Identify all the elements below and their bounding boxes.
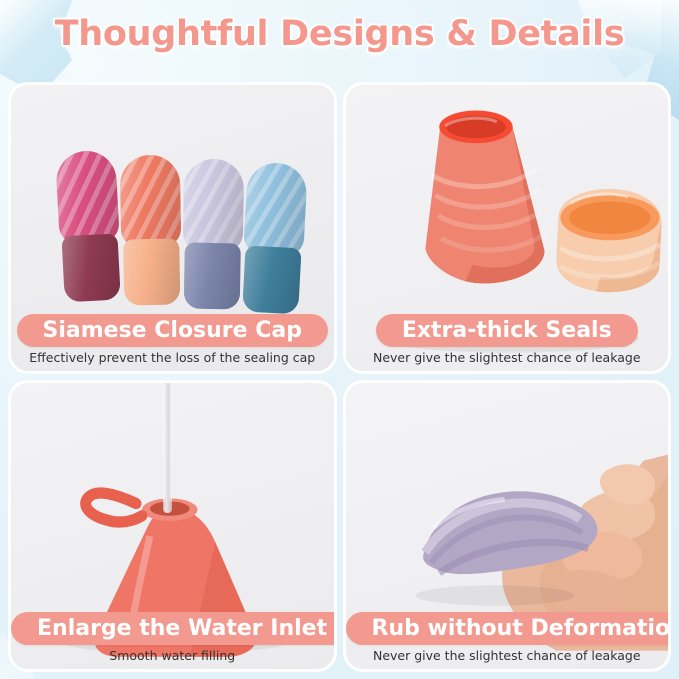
caption-title: Enlarge the Water Inlet (11, 612, 337, 645)
panel-enlarge-water-inlet: Enlarge the Water Inlet Smooth water fil… (8, 380, 337, 672)
caption-extra-thick-seals: Extra-thick Seals Never give the slighte… (346, 314, 669, 371)
caption-enlarge-water-inlet: Enlarge the Water Inlet Smooth water fil… (11, 612, 334, 669)
panel-siamese-closure-cap: Siamese Closure Cap Effectively prevent … (8, 82, 337, 374)
panel-extra-thick-seals: Extra-thick Seals Never give the slighte… (343, 82, 672, 374)
panel-rub-without-deformation: Rub without Deformation Never give the s… (343, 380, 672, 672)
caption-subtitle: Effectively prevent the loss of the seal… (11, 350, 334, 365)
caption-title: Siamese Closure Cap (17, 314, 328, 347)
feature-panel-grid: Siamese Closure Cap Effectively prevent … (8, 82, 671, 672)
product-feature-image: Thoughtful Designs & Details (0, 0, 679, 679)
page-title: Thoughtful Designs & Details (0, 14, 679, 54)
bottle-coral (425, 111, 545, 284)
caption-rub-without-deformation: Rub without Deformation Never give the s… (346, 612, 669, 669)
caption-title: Rub without Deformation (346, 612, 672, 645)
caption-subtitle: Never give the slightest chance of leaka… (346, 648, 669, 663)
caption-subtitle: Never give the slightest chance of leaka… (346, 350, 669, 365)
caption-title: Extra-thick Seals (376, 314, 638, 347)
water-stream (163, 383, 172, 513)
caption-siamese-closure-cap: Siamese Closure Cap Effectively prevent … (11, 314, 334, 371)
bottle-peach (556, 189, 661, 292)
caption-subtitle: Smooth water filling (11, 648, 334, 663)
